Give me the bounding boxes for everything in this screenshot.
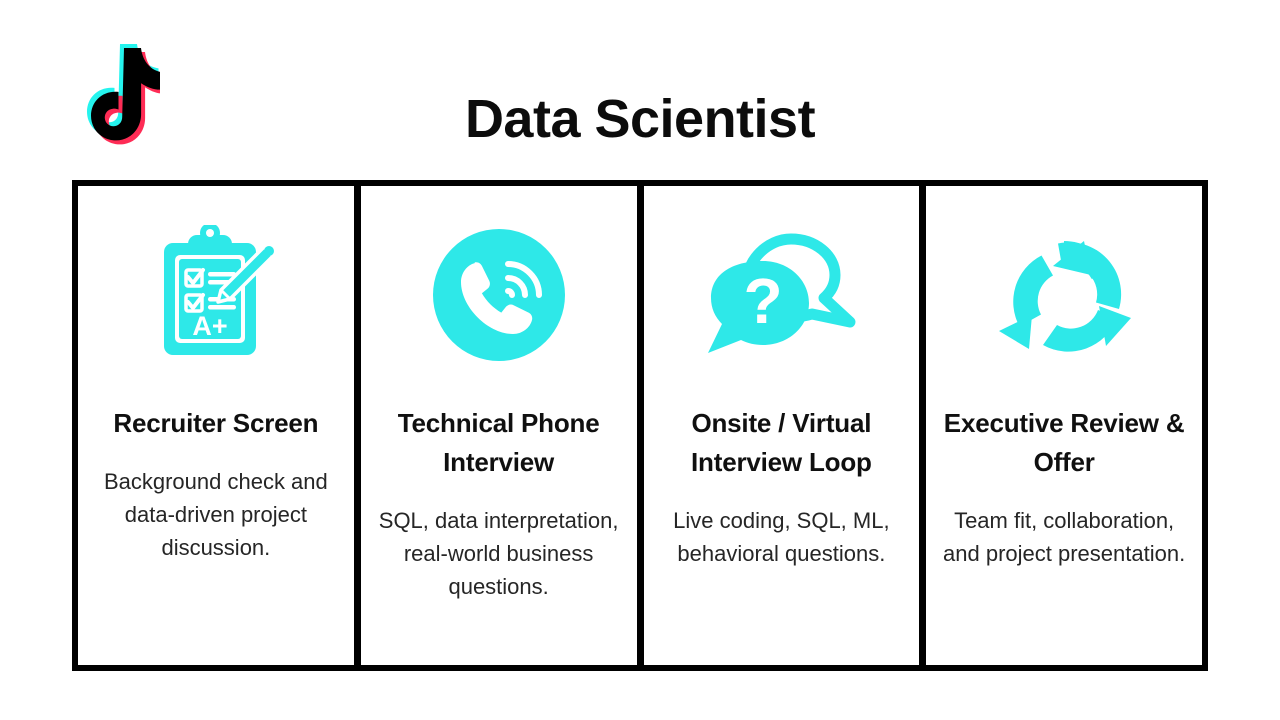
page-title: Data Scientist (0, 88, 1280, 150)
stage-title: Recruiter Screen (113, 404, 318, 443)
cycle-arrows-icon (940, 220, 1188, 370)
phone-call-icon (375, 220, 623, 370)
question-speech-bubbles-icon: ? (658, 220, 906, 370)
stage-card-executive-review-offer[interactable]: Executive Review & Offer Team fit, colla… (919, 186, 1202, 665)
stage-title: Executive Review & Offer (940, 404, 1188, 482)
stage-description: SQL, data interpretation, real-world bus… (375, 504, 623, 603)
stage-card-onsite-virtual-interview-loop[interactable]: ? Onsite / Virtual Interview Loop Live c… (637, 186, 920, 665)
stage-card-technical-phone-interview[interactable]: Technical Phone Interview SQL, data inte… (354, 186, 637, 665)
svg-text:A+: A+ (192, 311, 227, 341)
stage-card-recruiter-screen[interactable]: A+ Recruiter Screen Background check and… (78, 186, 354, 665)
svg-text:?: ? (744, 265, 783, 337)
stage-description: Background check and data-driven project… (98, 465, 333, 564)
stage-title: Onsite / Virtual Interview Loop (658, 404, 906, 482)
stage-description: Live coding, SQL, ML, behavioral questio… (658, 504, 906, 570)
stage-description: Team fit, collaboration, and project pre… (940, 504, 1188, 570)
clipboard-checklist-grade-icon: A+ (92, 220, 340, 370)
interview-stage-grid: A+ Recruiter Screen Background check and… (72, 180, 1208, 671)
stage-title: Technical Phone Interview (375, 404, 623, 482)
